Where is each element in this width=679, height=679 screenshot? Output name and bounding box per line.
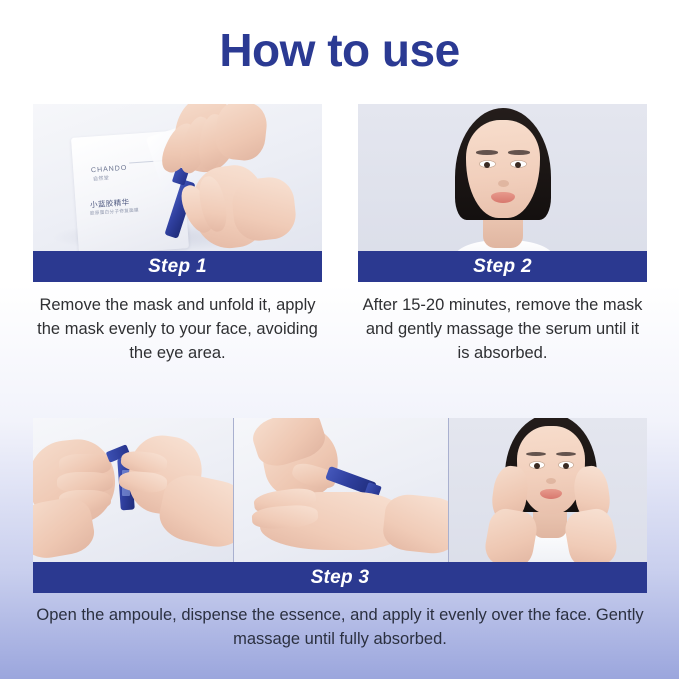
step-3-image-1 [33,418,233,562]
step-2-caption: After 15-20 minutes, remove the mask and… [358,294,647,366]
top-steps-row: CHANDO 自然堂 小蓝胶精华 胶原蛋白分子修复面膜 [33,104,647,366]
step-1-caption: Remove the mask and unfold it, apply the… [33,294,322,366]
step-3-image-2 [233,418,448,562]
portrait-brow-right [556,452,576,456]
step-1-image: CHANDO 自然堂 小蓝胶精华 胶原蛋白分子修复面膜 [33,104,322,251]
step-card-3: Step 3 Open the ampoule, dispense the es… [33,418,647,652]
step-3-caption: Open the ampoule, dispense the essence, … [33,604,647,652]
portrait-brow-left [476,150,498,155]
portrait-nose [546,478,556,484]
step-1-banner: Step 1 [33,251,322,282]
step-3-image-3 [448,418,647,562]
how-to-use-infographic: How to use CHANDO 自然堂 小蓝胶精华 胶原蛋白分子修复面膜 [0,0,679,679]
step-card-1: CHANDO 自然堂 小蓝胶精华 胶原蛋白分子修复面膜 [33,104,322,366]
step-3-banner: Step 3 [33,562,647,593]
portrait-face [466,120,540,218]
sachet-brand-sub-label: 自然堂 [93,174,110,182]
portrait-pupil-left [534,463,540,469]
portrait-pupil-right [515,162,521,168]
step-2-image [358,104,647,251]
portrait-pupil-left [484,162,490,168]
portrait-brow-right [508,150,530,155]
portrait-pupil-right [563,463,569,469]
step-2-banner: Step 2 [358,251,647,282]
portrait-nose [498,180,509,187]
portrait-brow-left [526,452,546,456]
portrait-face [517,426,585,514]
page-title: How to use [0,26,679,74]
step-3-image-strip [33,418,647,562]
step-card-2: Step 2 After 15-20 minutes, remove the m… [358,104,647,366]
